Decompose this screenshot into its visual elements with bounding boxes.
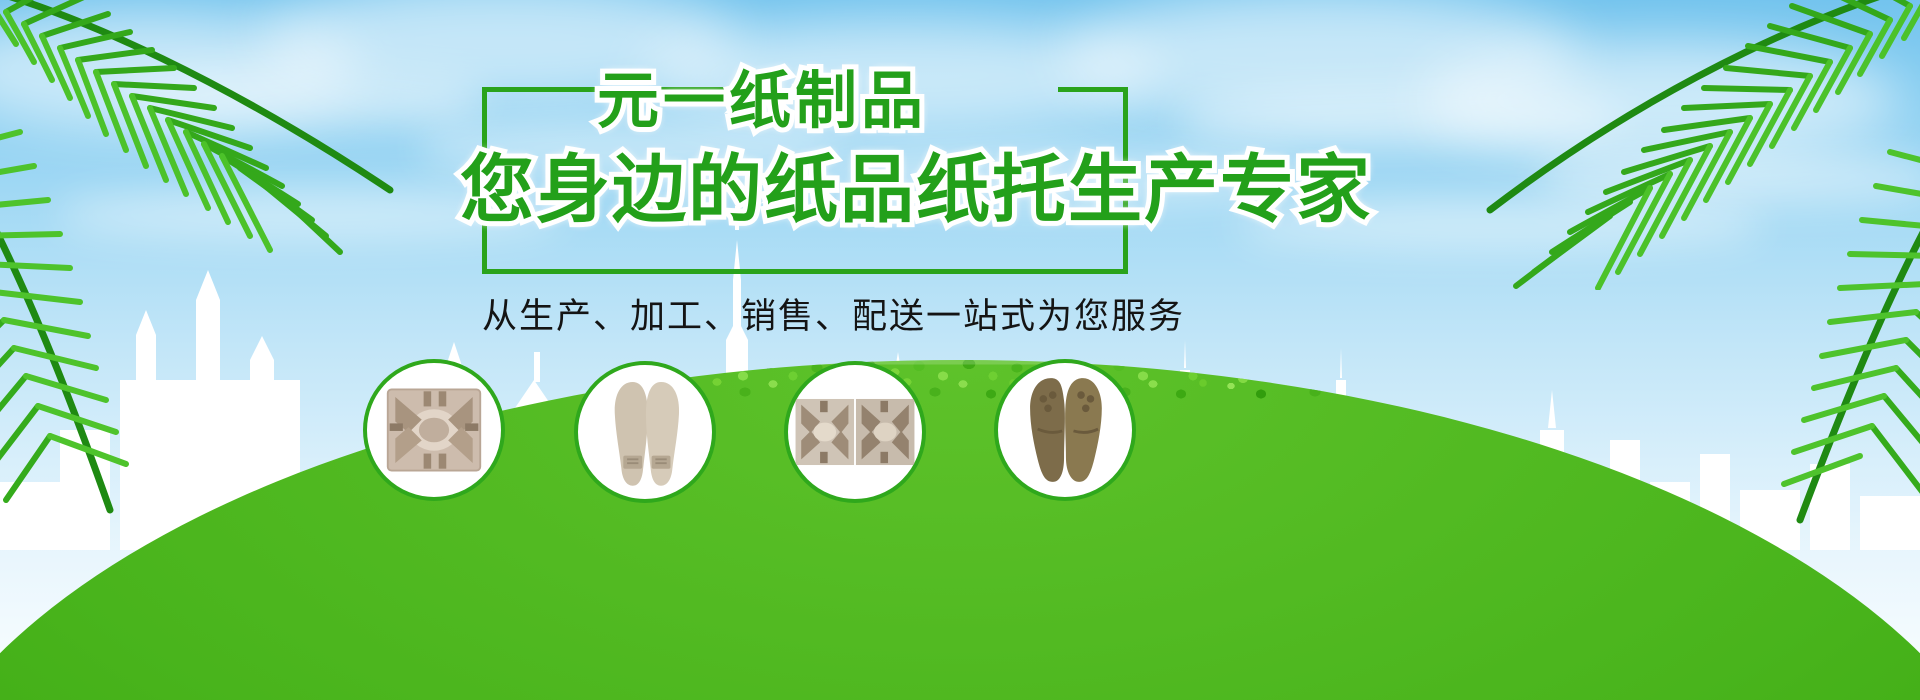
- product-circle-4[interactable]: [994, 359, 1136, 501]
- brand-name: 元一纸制品: [597, 50, 927, 140]
- headline-frame: 元一纸制品 您身边的纸品纸托生产专家: [482, 92, 1128, 274]
- bracket-top-right-rule: [1058, 87, 1128, 92]
- product-circle-1[interactable]: [363, 359, 505, 501]
- paper-pulp-tray-pair-image: [788, 365, 922, 499]
- product-circle-3[interactable]: [784, 361, 926, 503]
- paper-pulp-shoe-insole-image: [578, 365, 712, 499]
- subtitle: 从生产、加工、销售、配送一站式为您服务: [482, 288, 1128, 339]
- green-hill: [0, 280, 1920, 700]
- headline: 您身边的纸品纸托生产专家: [460, 130, 1150, 237]
- promo-banner: 元一纸制品 您身边的纸品纸托生产专家 从生产、加工、销售、配送一站式为您服务: [0, 0, 1920, 700]
- paper-pulp-tray-square-image: [367, 363, 501, 497]
- product-circle-2[interactable]: [574, 361, 716, 503]
- paper-pulp-shoe-form-image: [998, 363, 1132, 497]
